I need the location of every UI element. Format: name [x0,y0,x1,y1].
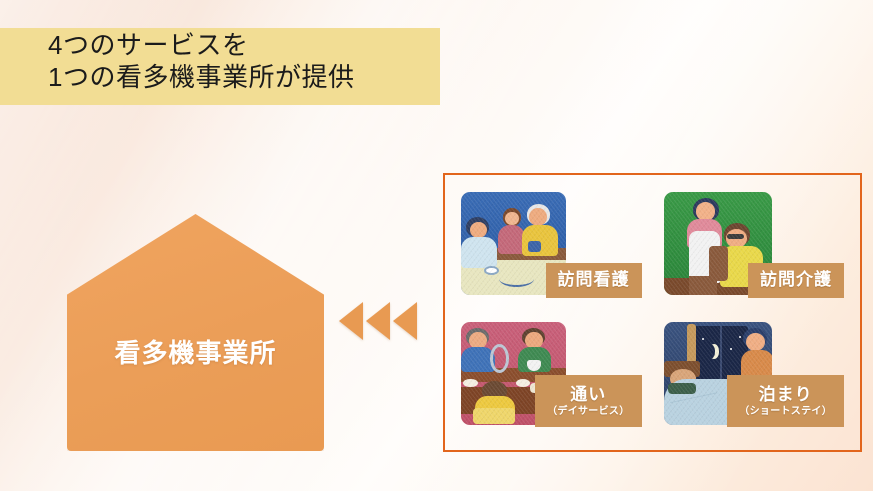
service-card-visiting-nursing[interactable]: 訪問看護 [461,192,642,304]
triangle-left-icon [366,302,390,340]
arrow-group [339,302,417,340]
services-frame: 訪問看護 [443,173,862,452]
triangle-left-icon [393,302,417,340]
page-title: 4つのサービスを 1つの看多機事業所が提供 [48,29,354,93]
services-grid: 訪問看護 [445,175,860,450]
slide-canvas: 4つのサービスを 1つの看多機事業所が提供 看多機事業所 [0,0,873,491]
service-label-visiting-care: 訪問介護 [748,263,844,297]
service-card-day-service[interactable]: 通い （デイサービス） [461,322,642,434]
service-card-short-stay[interactable]: 泊まり （ショートステイ） [664,322,845,434]
triangle-left-icon [339,302,363,340]
house-facility-shape: 看多機事業所 [67,214,324,451]
house-label: 看多機事業所 [67,333,324,370]
service-label-visiting-nursing: 訪問看護 [546,263,642,297]
service-label-short-stay: 泊まり （ショートステイ） [727,375,844,427]
service-card-visiting-care[interactable]: 訪問介護 [664,192,845,304]
service-label-day-service: 通い （デイサービス） [535,375,641,427]
